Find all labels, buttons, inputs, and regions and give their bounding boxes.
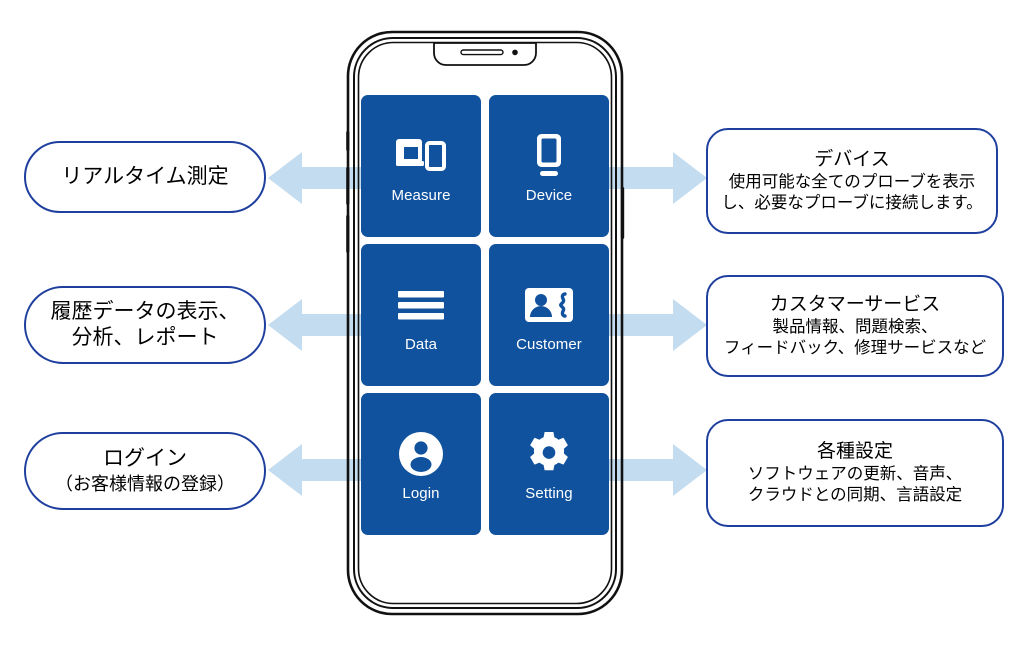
app-tile-measure-label: Measure	[391, 188, 450, 203]
callout-measure: リアルタイム測定	[24, 141, 266, 213]
list-lines-icon	[398, 279, 444, 331]
callout-measure-line-1: リアルタイム測定	[61, 164, 228, 190]
callout-login: ログイン （お客様情報の登録）	[24, 432, 266, 510]
gear-icon	[526, 428, 572, 480]
callout-customer-line-1: 製品情報、問題検索、	[773, 317, 938, 338]
callout-login-line-1: ログイン	[103, 446, 187, 472]
app-tile-login-label: Login	[402, 486, 439, 501]
callout-device-title: デバイス	[814, 148, 889, 172]
app-tile-measure[interactable]: Measure	[361, 95, 481, 237]
smartphone-icon	[532, 130, 566, 182]
app-tile-customer[interactable]: Customer	[489, 244, 609, 386]
smartphone-mockup: Measure Device Data	[330, 27, 640, 619]
callout-data: 履歴データの表示、 分析、レポート	[24, 286, 266, 364]
callout-login-line-2: （お客様情報の登録）	[55, 473, 235, 496]
app-tile-setting-label: Setting	[525, 486, 572, 501]
callout-device-line-1: 使用可能な全てのプローブを表示	[729, 172, 976, 193]
callout-device: デバイス 使用可能な全てのプローブを表示 し、必要なプローブに接続します。	[706, 128, 998, 234]
callout-device-line-2: し、必要なプローブに接続します。	[721, 193, 982, 214]
callout-data-line-1: 履歴データの表示、	[51, 299, 240, 325]
app-tile-setting[interactable]: Setting	[489, 393, 609, 535]
callout-setting-line-2: クラウドとの同期、言語設定	[748, 485, 962, 506]
callout-setting: 各種設定 ソフトウェアの更新、音声、 クラウドとの同期、言語設定	[706, 419, 1004, 527]
callout-customer-line-2: フィードバック、修理サービスなど	[724, 338, 986, 359]
callout-setting-title: 各種設定	[817, 440, 893, 464]
app-tile-data-label: Data	[405, 337, 437, 352]
contact-card-phone-icon	[524, 279, 574, 331]
app-tile-device[interactable]: Device	[489, 95, 609, 237]
app-tile-customer-label: Customer	[516, 337, 582, 352]
callout-data-line-2: 分析、レポート	[72, 325, 219, 351]
app-tile-login[interactable]: Login	[361, 393, 481, 535]
callout-customer: カスタマーサービス 製品情報、問題検索、 フィードバック、修理サービスなど	[706, 275, 1004, 377]
app-tile-device-label: Device	[526, 188, 572, 203]
callout-setting-line-1: ソフトウェアの更新、音声、	[748, 464, 963, 485]
laptop-and-phone-icon	[396, 130, 446, 182]
callout-customer-title: カスタマーサービス	[770, 293, 941, 317]
app-tile-data[interactable]: Data	[361, 244, 481, 386]
app-grid: Measure Device Data	[361, 95, 609, 535]
person-circle-icon	[398, 428, 444, 480]
